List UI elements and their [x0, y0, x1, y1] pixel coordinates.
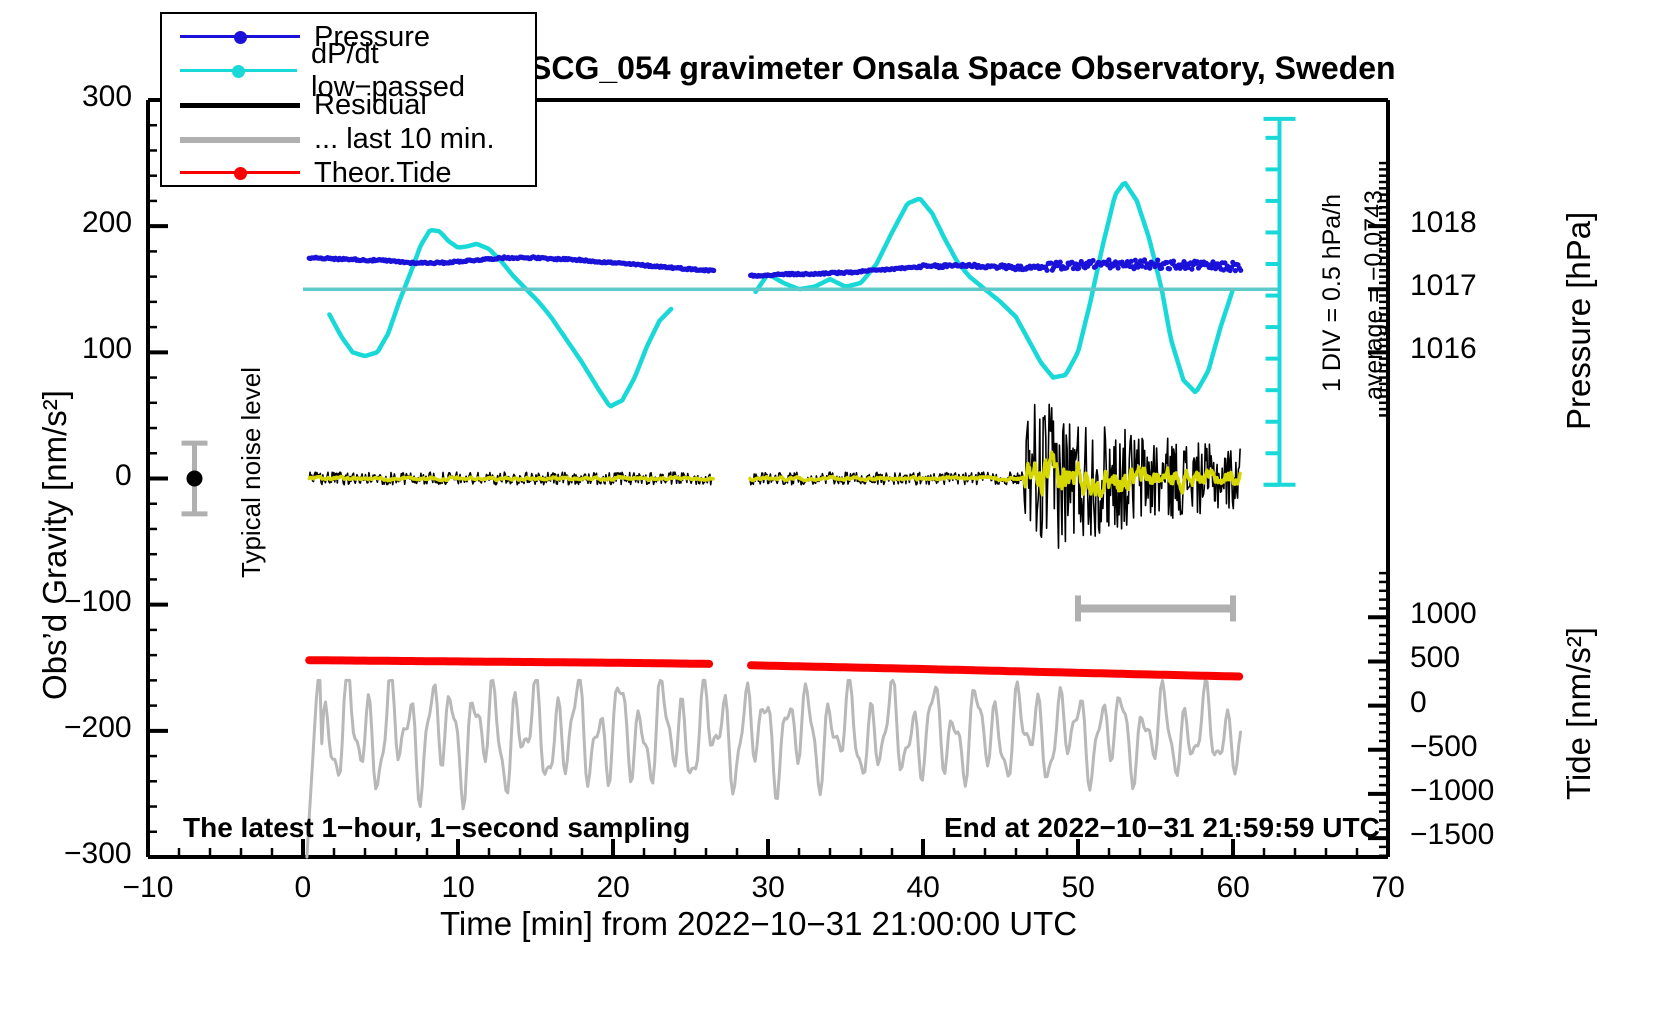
axis-tick-label: 50: [1062, 871, 1095, 905]
legend-swatch-dpdt: [180, 61, 297, 81]
axis-tick-label: 500: [1410, 641, 1460, 675]
legend-item-tide[interactable]: Theor.Tide: [180, 156, 535, 190]
x-axis-title: Time [min] from 2022−10−31 21:00:00 UTC: [440, 905, 1077, 943]
axis-tick-label: 100: [82, 332, 132, 366]
y-axis-title-tide: Tide [nm/s²]: [1560, 627, 1598, 800]
axis-tick-label: −10: [123, 871, 174, 905]
axis-tick-label: 20: [597, 871, 630, 905]
div-scale-label: 1 DIV = 0.5 hPa/h: [1318, 194, 1347, 392]
noise-level-label: Typical noise level: [236, 367, 267, 578]
axis-tick-label: 10: [442, 871, 475, 905]
legend-swatch-tide: [180, 163, 300, 183]
axis-tick-label: 0: [295, 871, 312, 905]
y-axis-title-pressure: Pressure [hPa]: [1560, 212, 1598, 430]
axis-tick-label: 30: [752, 871, 785, 905]
axis-tick-label: 1018: [1410, 206, 1477, 240]
legend-item-dpdt[interactable]: dP/dt low−passed: [180, 54, 535, 88]
axis-tick-label: 40: [907, 871, 940, 905]
average-label: average = −0.0743: [1360, 190, 1389, 400]
legend-swatch-pressure: [180, 27, 300, 47]
axis-tick-label: 1000: [1410, 597, 1477, 631]
axis-tick-label: 1017: [1410, 269, 1477, 303]
axis-tick-label: −1500: [1410, 818, 1494, 852]
axis-tick-label: −100: [64, 585, 132, 619]
axis-tick-label: 70: [1372, 871, 1405, 905]
legend-swatch-last10: [180, 129, 300, 149]
axis-tick-label: 0: [1410, 686, 1427, 720]
footer-right-note: End at 2022−10−31 21:59:59 UTC: [944, 812, 1380, 844]
legend: Pressure dP/dt low−passed Residual ... l…: [160, 12, 537, 187]
legend-item-last10[interactable]: ... last 10 min.: [180, 122, 535, 156]
axis-tick-label: −300: [64, 837, 132, 871]
legend-swatch-residual: [180, 95, 300, 115]
legend-label-tide: Theor.Tide: [314, 157, 452, 190]
legend-label-residual: Residual: [314, 89, 427, 122]
axis-tick-label: 0: [115, 459, 132, 493]
y-axis-title-gravity: Obs’d Gravity [nm/s²]: [36, 390, 74, 700]
axis-tick-label: −200: [64, 711, 132, 745]
page-title: SCG_054 gravimeter Onsala Space Observat…: [530, 50, 1396, 87]
axis-tick-label: 200: [82, 206, 132, 240]
axis-tick-label: −1000: [1410, 774, 1494, 808]
legend-label-last10: ... last 10 min.: [314, 123, 495, 156]
axis-tick-label: −500: [1410, 730, 1478, 764]
axis-tick-label: 300: [82, 80, 132, 114]
footer-left-note: The latest 1−hour, 1−second sampling: [183, 812, 690, 844]
axis-tick-label: 60: [1217, 871, 1250, 905]
axis-tick-label: 1016: [1410, 332, 1477, 366]
